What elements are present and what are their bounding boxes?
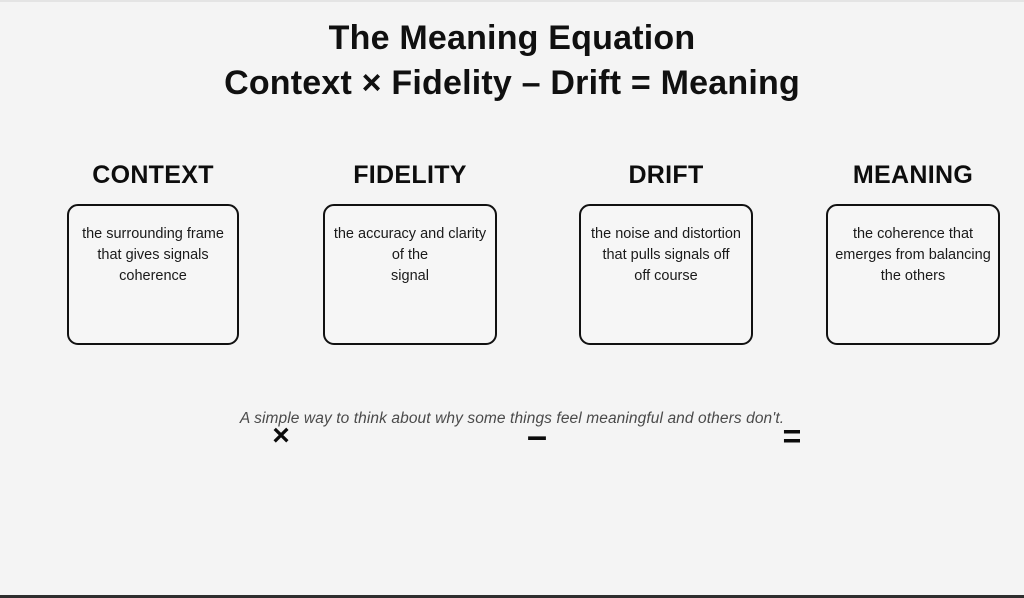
term-fidelity-description: the accuracy and clarity of the signal [328, 224, 492, 287]
term-drift-description: the noise and distortion that pulls sign… [585, 224, 747, 287]
term-fidelity-box: the accuracy and clarity of the signal [323, 204, 497, 345]
term-context: CONTEXT the surrounding frame that gives… [67, 160, 239, 345]
slide-title-line-1: The Meaning Equation [0, 16, 1024, 60]
term-drift-label: DRIFT [579, 160, 753, 190]
term-meaning-box: the coherence that emerges from balancin… [826, 204, 1000, 345]
term-context-description: the surrounding frame that gives signals… [76, 224, 230, 287]
term-meaning-label: MEANING [826, 160, 1000, 190]
title-block: The Meaning Equation Context × Fidelity … [0, 16, 1024, 106]
slide-title-line-2: Context × Fidelity – Drift = Meaning [0, 60, 1024, 106]
term-context-box: the surrounding frame that gives signals… [67, 204, 239, 345]
slide-caption: A simple way to think about why some thi… [0, 410, 1024, 428]
equation-row: CONTEXT the surrounding frame that gives… [0, 160, 1024, 350]
term-meaning: MEANING the coherence that emerges from … [826, 160, 1000, 345]
term-fidelity: FIDELITY the accuracy and clarity of the… [323, 160, 497, 345]
term-drift-box: the noise and distortion that pulls sign… [579, 204, 753, 345]
slide-canvas: The Meaning Equation Context × Fidelity … [0, 2, 1024, 595]
term-context-label: CONTEXT [67, 160, 239, 190]
term-fidelity-label: FIDELITY [323, 160, 497, 190]
term-meaning-description: the coherence that emerges from balancin… [829, 224, 997, 287]
term-drift: DRIFT the noise and distortion that pull… [579, 160, 753, 345]
